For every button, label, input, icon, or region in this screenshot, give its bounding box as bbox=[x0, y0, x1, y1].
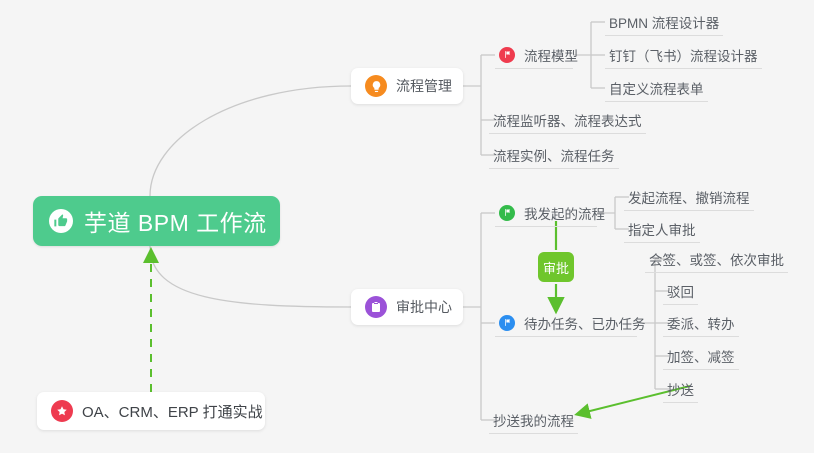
leaf-label-dingtalk-designer: 钉钉（飞书）流程设计器 bbox=[609, 45, 758, 65]
leaf-label-instance-task: 流程实例、流程任务 bbox=[493, 145, 615, 165]
branch-label-approval-center: 审批中心 bbox=[396, 297, 452, 317]
leaf-node-reject[interactable]: 驳回 bbox=[663, 277, 698, 305]
leaf-node-countersign[interactable]: 会签、或签、依次审批 bbox=[645, 245, 788, 273]
integration-node[interactable]: OA、CRM、ERP 打通实战 bbox=[37, 392, 265, 430]
leaf-node-cc-to-me[interactable]: 抄送我的流程 bbox=[489, 406, 578, 434]
leaf-label-custom-form: 自定义流程表单 bbox=[609, 78, 704, 98]
integration-node-label: OA、CRM、ERP 打通实战 bbox=[82, 401, 263, 422]
leaf-label-delegate-transfer: 委派、转办 bbox=[667, 313, 735, 333]
leaf-node-custom-form[interactable]: 自定义流程表单 bbox=[605, 74, 708, 102]
flag-icon bbox=[499, 47, 515, 63]
mindmap-canvas: 芋道 BPM 工作流 流程管理 流程模型 BPMN 流程设计器 钉钉（飞书）流程… bbox=[0, 0, 814, 453]
flag-icon bbox=[499, 205, 515, 221]
approval-badge-label: 审批 bbox=[543, 258, 569, 277]
leaf-label-cc: 抄送 bbox=[667, 379, 694, 399]
leaf-node-start-cancel-flow[interactable]: 发起流程、撤销流程 bbox=[624, 183, 754, 211]
clipboard-icon bbox=[365, 296, 387, 318]
leaf-node-todo-done-tasks[interactable]: 待办任务、已办任务 bbox=[495, 309, 637, 337]
thumbs-up-icon bbox=[49, 209, 73, 233]
leaf-node-add-remove-sign[interactable]: 加签、减签 bbox=[663, 342, 739, 370]
star-icon bbox=[51, 400, 73, 422]
leaf-label-bpmn-designer: BPMN 流程设计器 bbox=[609, 12, 719, 32]
branch-label-flow-management: 流程管理 bbox=[396, 76, 452, 96]
leaf-node-assigned-approver[interactable]: 指定人审批 bbox=[624, 215, 700, 243]
leaf-node-listener-expression[interactable]: 流程监听器、流程表达式 bbox=[489, 106, 646, 134]
leaf-label-my-initiated-flows: 我发起的流程 bbox=[524, 203, 605, 223]
leaf-label-todo-done-tasks: 待办任务、已办任务 bbox=[524, 313, 646, 333]
leaf-node-my-initiated-flows[interactable]: 我发起的流程 bbox=[495, 199, 597, 227]
branch-node-flow-management[interactable]: 流程管理 bbox=[351, 68, 463, 104]
leaf-label-reject: 驳回 bbox=[667, 281, 694, 301]
leaf-node-dingtalk-designer[interactable]: 钉钉（飞书）流程设计器 bbox=[605, 41, 762, 69]
approval-badge[interactable]: 审批 bbox=[538, 252, 574, 282]
leaf-node-instance-task[interactable]: 流程实例、流程任务 bbox=[489, 141, 619, 169]
leaf-label-add-remove-sign: 加签、减签 bbox=[667, 346, 735, 366]
leaf-label-flow-model: 流程模型 bbox=[524, 45, 578, 65]
branch-node-approval-center[interactable]: 审批中心 bbox=[351, 289, 463, 325]
leaf-label-start-cancel-flow: 发起流程、撤销流程 bbox=[628, 187, 750, 207]
leaf-label-listener-expression: 流程监听器、流程表达式 bbox=[493, 110, 642, 130]
root-label: 芋道 BPM 工作流 bbox=[84, 204, 267, 238]
leaf-node-delegate-transfer[interactable]: 委派、转办 bbox=[663, 309, 739, 337]
leaf-node-flow-model[interactable]: 流程模型 bbox=[495, 41, 573, 69]
leaf-label-assigned-approver: 指定人审批 bbox=[628, 219, 696, 239]
lightbulb-icon bbox=[365, 75, 387, 97]
leaf-node-cc[interactable]: 抄送 bbox=[663, 375, 698, 403]
leaf-label-countersign: 会签、或签、依次审批 bbox=[649, 249, 784, 269]
root-node[interactable]: 芋道 BPM 工作流 bbox=[33, 196, 280, 246]
leaf-node-bpmn-designer[interactable]: BPMN 流程设计器 bbox=[605, 8, 723, 36]
leaf-label-cc-to-me: 抄送我的流程 bbox=[493, 410, 574, 430]
flag-icon bbox=[499, 315, 515, 331]
